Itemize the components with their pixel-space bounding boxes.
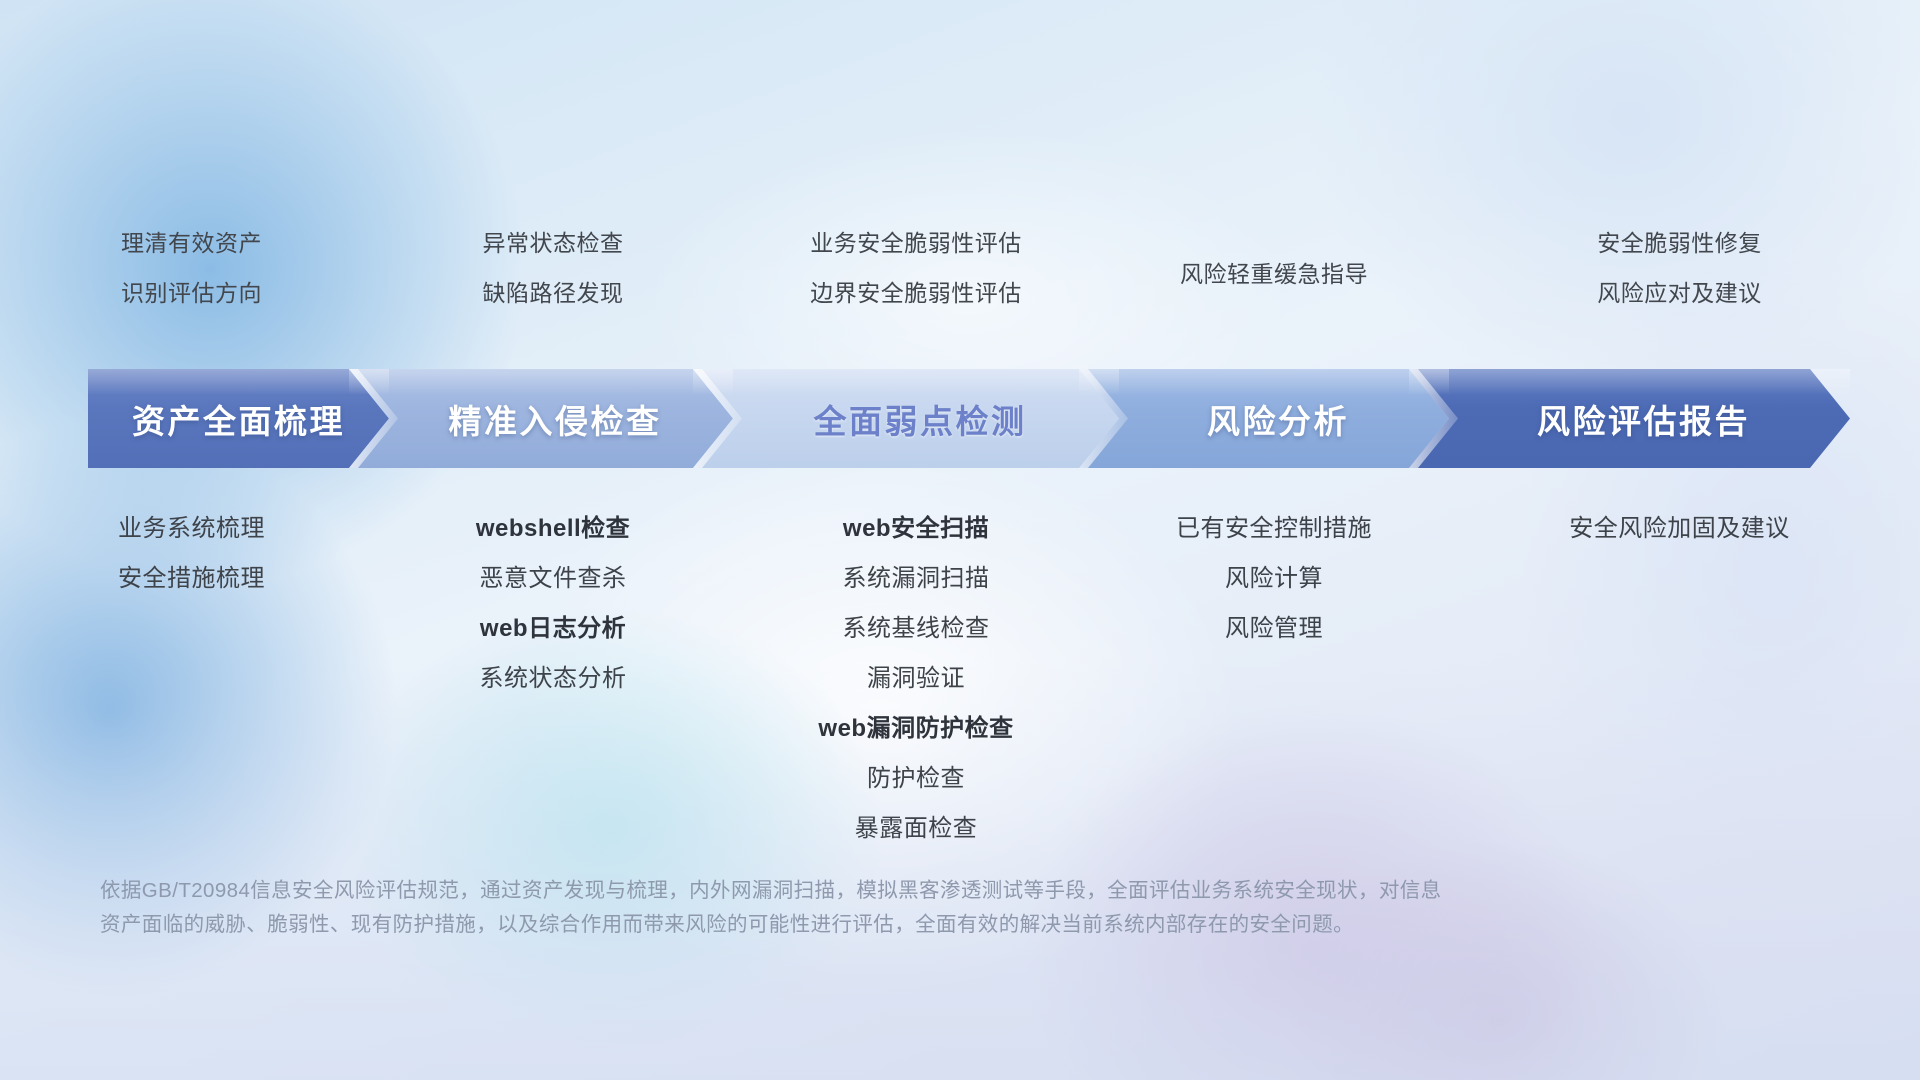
- list-item: web漏洞防护检查: [818, 708, 1013, 743]
- top-label: 异常状态检查: [483, 224, 624, 258]
- detail-list-step-4: 已有安全控制措施 风险计算 风险管理: [1109, 508, 1439, 643]
- list-item: 恶意文件查杀: [480, 558, 627, 593]
- top-label: 业务安全脆弱性评估: [810, 224, 1022, 258]
- top-labels-step-2: 异常状态检查 缺陷路径发现: [383, 224, 723, 308]
- process-step-weakness-detection[interactable]: 全面弱点检测: [693, 369, 1119, 468]
- list-item: 风险管理: [1225, 608, 1323, 643]
- list-item: 已有安全控制措施: [1176, 508, 1372, 543]
- footer-line-1: 依据GB/T20984信息安全风险评估规范，通过资产发现与梳理，内外网漏洞扫描，…: [100, 874, 1830, 908]
- list-item: 防护检查: [867, 758, 965, 793]
- detail-list: 安全风险加固及建议: [1439, 508, 1920, 543]
- top-label-group: 安全脆弱性修复 风险应对及建议: [1439, 224, 1920, 308]
- detail-list: webshell检查 恶意文件查杀 web日志分析 系统状态分析: [383, 508, 723, 693]
- detail-list-step-5: 安全风险加固及建议: [1439, 508, 1920, 543]
- list-item: 安全措施梳理: [118, 558, 265, 593]
- list-item: 安全风险加固及建议: [1569, 508, 1790, 543]
- top-labels-step-4: 风险轻重缓急指导: [1109, 224, 1439, 289]
- process-step-risk-report[interactable]: 风险评估报告: [1409, 369, 1850, 468]
- list-item: 系统基线检查: [843, 608, 990, 643]
- list-item: 系统漏洞扫描: [843, 558, 990, 593]
- process-step-title: 精准入侵检查: [449, 395, 662, 443]
- detail-list-step-2: webshell检查 恶意文件查杀 web日志分析 系统状态分析: [383, 508, 723, 693]
- list-item: 系统状态分析: [480, 658, 627, 693]
- process-step-asset-inventory[interactable]: 资产全面梳理: [88, 369, 389, 468]
- top-label: 风险应对及建议: [1597, 274, 1762, 308]
- top-label-group: 异常状态检查 缺陷路径发现: [383, 224, 723, 308]
- list-item: 业务系统梳理: [118, 508, 265, 543]
- process-step-title: 风险评估报告: [1537, 395, 1750, 443]
- process-step-title: 全面弱点检测: [814, 395, 1027, 443]
- detail-list-step-3: web安全扫描 系统漏洞扫描 系统基线检查 漏洞验证 web漏洞防护检查 防护检…: [723, 508, 1109, 843]
- top-label-row: 理清有效资产 识别评估方向 异常状态检查 缺陷路径发现 业务安全脆弱性评估 边界…: [0, 224, 1920, 308]
- top-label-group: 理清有效资产 识别评估方向: [0, 224, 383, 308]
- top-labels-step-3: 业务安全脆弱性评估 边界安全脆弱性评估: [723, 224, 1109, 308]
- list-item: 暴露面检查: [855, 808, 978, 843]
- process-chevron-band: 资产全面梳理 精准入侵检查 全面弱点检测 风险分析 风险评估报告: [0, 369, 1920, 468]
- detail-list: 业务系统梳理 安全措施梳理: [0, 508, 383, 593]
- top-label-group: 风险轻重缓急指导: [1109, 224, 1439, 289]
- top-label: 风险轻重缓急指导: [1180, 255, 1368, 289]
- footer-description: 依据GB/T20984信息安全风险评估规范，通过资产发现与梳理，内外网漏洞扫描，…: [100, 874, 1830, 942]
- top-label: 理清有效资产: [121, 224, 262, 258]
- footer-line-2: 资产面临的威胁、脆弱性、现有防护措施，以及综合作用而带来风险的可能性进行评估，全…: [100, 908, 1830, 942]
- detail-list: web安全扫描 系统漏洞扫描 系统基线检查 漏洞验证 web漏洞防护检查 防护检…: [723, 508, 1109, 843]
- top-label: 安全脆弱性修复: [1597, 224, 1762, 258]
- top-labels-step-5: 安全脆弱性修复 风险应对及建议: [1439, 224, 1920, 308]
- list-item: 漏洞验证: [867, 658, 965, 693]
- detail-list-step-1: 业务系统梳理 安全措施梳理: [0, 508, 383, 593]
- detail-list-row: 业务系统梳理 安全措施梳理 webshell检查 恶意文件查杀 web日志分析 …: [0, 508, 1920, 843]
- top-label-group: 业务安全脆弱性评估 边界安全脆弱性评估: [723, 224, 1109, 308]
- top-labels-step-1: 理清有效资产 识别评估方向: [0, 224, 383, 308]
- process-step-title: 资产全面梳理: [132, 395, 345, 443]
- list-item: webshell检查: [476, 508, 630, 543]
- process-step-risk-analysis[interactable]: 风险分析: [1079, 369, 1449, 468]
- top-label: 缺陷路径发现: [483, 274, 624, 308]
- list-item: web日志分析: [480, 608, 626, 643]
- detail-list: 已有安全控制措施 风险计算 风险管理: [1109, 508, 1439, 643]
- process-step-intrusion-check[interactable]: 精准入侵检查: [349, 369, 733, 468]
- list-item: web安全扫描: [843, 508, 989, 543]
- process-step-title: 风险分析: [1207, 395, 1349, 443]
- list-item: 风险计算: [1225, 558, 1323, 593]
- top-label: 识别评估方向: [121, 274, 262, 308]
- top-label: 边界安全脆弱性评估: [810, 274, 1022, 308]
